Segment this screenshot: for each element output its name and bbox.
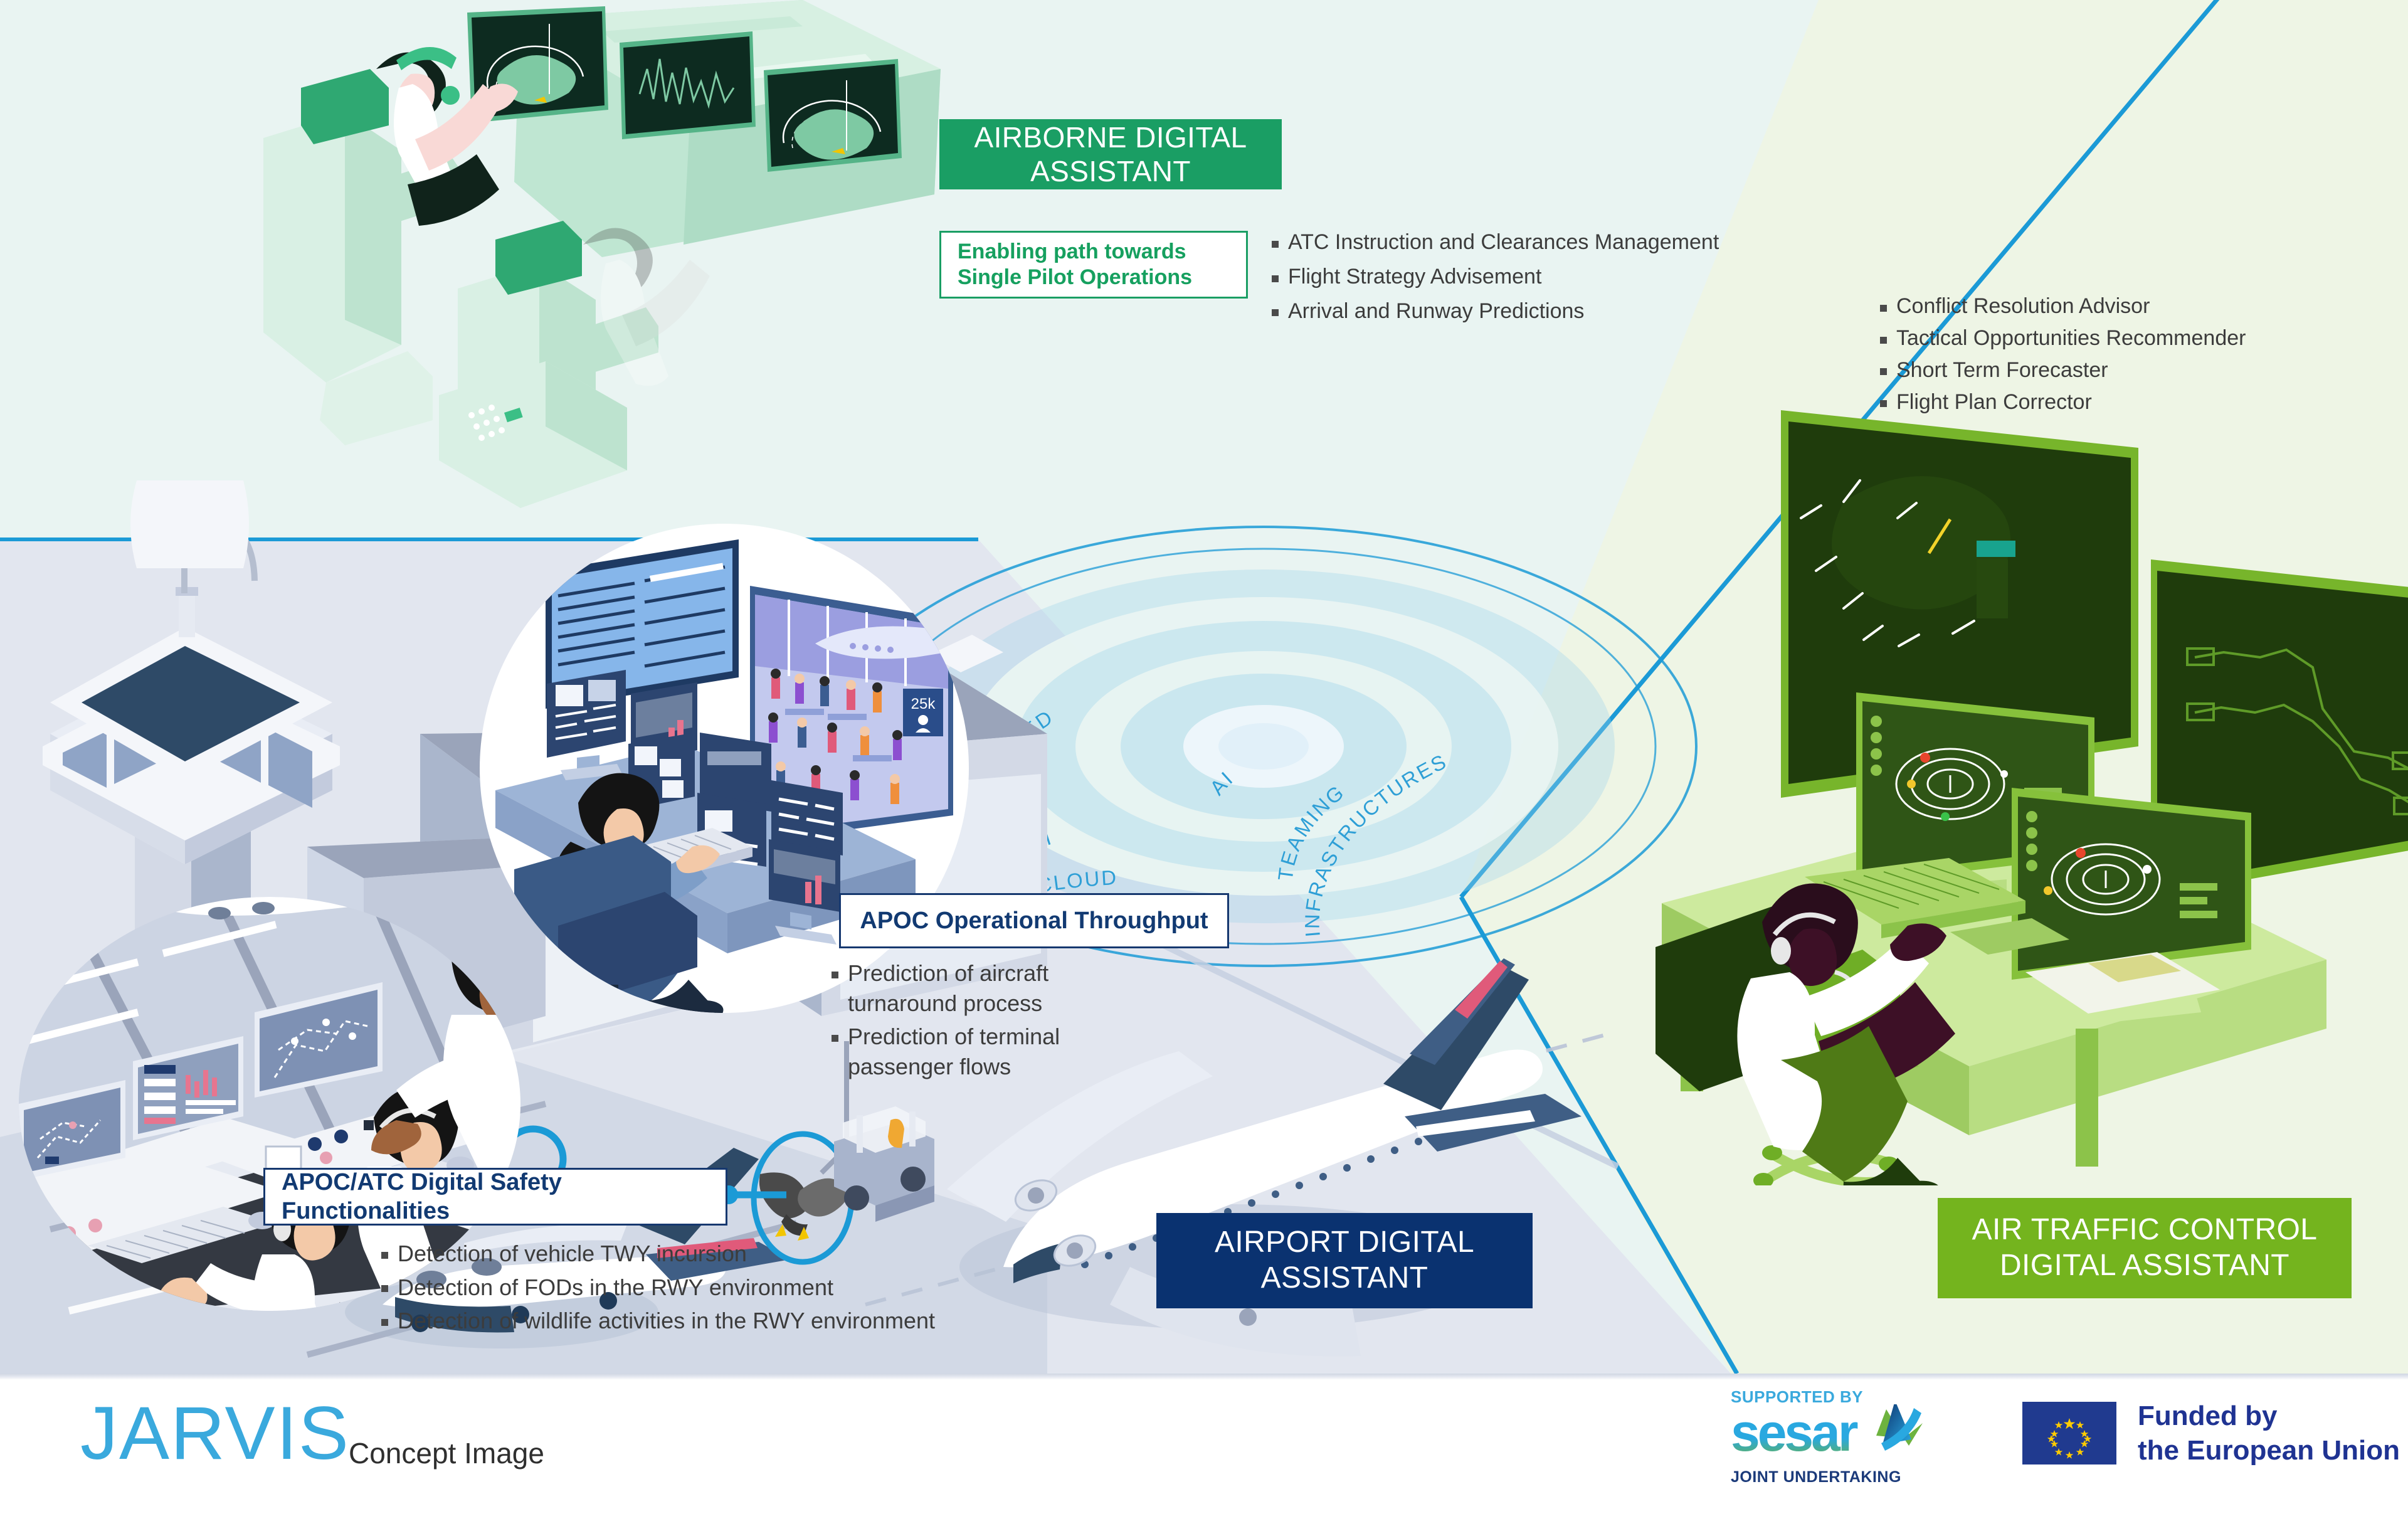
list-item: Tactical Opportunities Recommender [1875, 324, 2389, 352]
list-item: ATC Instruction and Clearances Managemen… [1267, 228, 1894, 257]
eu-text-line2: the European Union [2138, 1433, 2400, 1468]
eu-flag-icon [2022, 1402, 2116, 1464]
eu-funding-text: Funded by the European Union [2138, 1399, 2400, 1468]
airport-title-line2: ASSISTANT [1261, 1261, 1428, 1296]
footer-top-shadow [0, 1374, 2408, 1380]
ring-label-infrastructures: INFRASTRUCTURES [1301, 749, 1451, 938]
list-item: Detection of wildlife activities in the … [376, 1306, 1129, 1336]
airport-digital-assistant-title: AIRPORT DIGITAL ASSISTANT [1156, 1213, 1533, 1308]
ring-label-ai: AI [1205, 766, 1238, 799]
apoc-throughput-label: APOC Operational Throughput [860, 906, 1208, 935]
airborne-digital-assistant-title: AIRBORNE DIGITAL ASSISTANT [939, 119, 1282, 189]
list-item: Prediction of terminal passenger flows [826, 1022, 1096, 1081]
list-item: Conflict Resolution Advisor [1875, 292, 2389, 320]
list-item: Short Term Forecaster [1875, 356, 2389, 384]
list-item: Detection of FODs in the RWY environment [376, 1273, 1129, 1303]
apoc-throughput-bullets: Prediction of aircraft turnaround proces… [826, 958, 1096, 1081]
atc-controller-figure [1737, 884, 1955, 1185]
cockpit-screen-right-radar [764, 59, 902, 172]
airborne-bullets: ATC Instruction and Clearances Managemen… [1267, 228, 1894, 326]
ground-vehicle [834, 1106, 934, 1222]
airborne-title-line1: AIRBORNE DIGITAL [974, 120, 1247, 154]
atc-title-line1: AIR TRAFFIC CONTROL [1972, 1212, 2318, 1248]
concept-image-subtitle: Concept Image [349, 1436, 544, 1470]
apoc-passenger-counter: 25k [903, 689, 943, 736]
jarvis-wordmark: JARVIS [80, 1390, 350, 1476]
sesar-logo: SUPPORTED BY sesar [1731, 1387, 1969, 1500]
air-traffic-control-digital-assistant-title: AIR TRAFFIC CONTROL DIGITAL ASSISTANT [1938, 1198, 2352, 1298]
list-item: Prediction of aircraft turnaround proces… [826, 958, 1096, 1018]
airport-title-line1: AIRPORT DIGITAL [1215, 1225, 1474, 1261]
atc-title-line2: DIGITAL ASSISTANT [2000, 1248, 2289, 1284]
eu-funding-logo: Funded by the European Union [2022, 1399, 2400, 1468]
callout-line2: Single Pilot Operations [958, 265, 1192, 290]
eu-text-line1: Funded by [2138, 1399, 2400, 1433]
callout-line1: Enabling path towards [958, 239, 1186, 265]
cockpit-illustration [251, 0, 1003, 508]
sesar-joint-undertaking: JOINT UNDERTAKING [1731, 1468, 1969, 1486]
sesar-wordmark: sesar [1731, 1404, 1858, 1462]
apoc-atc-digital-safety-callout: APOC/ATC Digital Safety Functionalities [263, 1168, 727, 1226]
apoc-operational-throughput-callout: APOC Operational Throughput [839, 893, 1229, 948]
atc-controller-illustration [1655, 395, 2408, 1185]
list-item: Flight Strategy Advisement [1267, 263, 1894, 291]
list-item: Detection of vehicle TWY incursion [376, 1239, 1129, 1269]
passenger-counter-value: 25k [911, 696, 936, 712]
infographic-canvas: ASSURED AI TEAMING INFRASTRUCTURES HUMAN… [0, 0, 2408, 1536]
list-item: Arrival and Runway Predictions [1267, 297, 1894, 326]
cockpit-screen-waveform [620, 31, 756, 139]
airborne-title-line2: ASSISTANT [1030, 154, 1191, 188]
single-pilot-operations-callout: Enabling path towards Single Pilot Opera… [939, 231, 1248, 299]
apoc-safety-label: APOC/ATC Digital Safety Functionalities [282, 1168, 709, 1226]
apoc-safety-bullets: Detection of vehicle TWY incursion Detec… [376, 1239, 1129, 1336]
